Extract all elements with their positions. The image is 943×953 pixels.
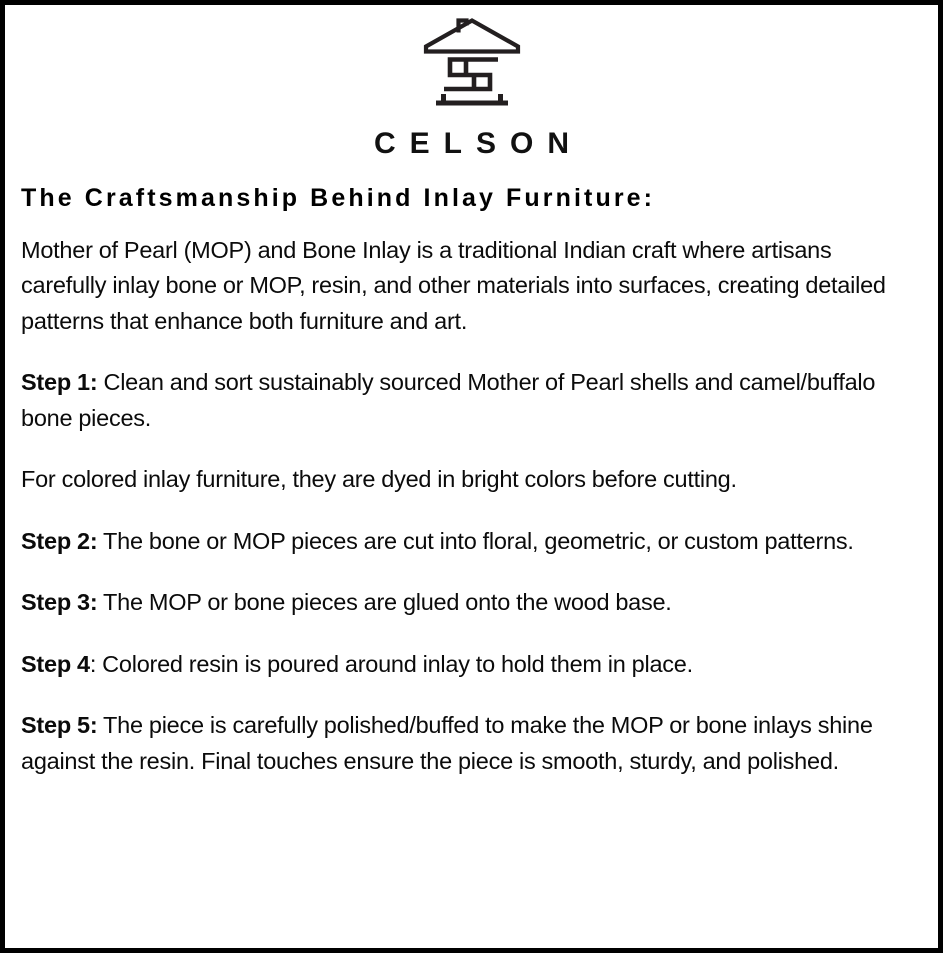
brand-header: CELSON: [16, 11, 927, 159]
step-2-label: Step 2:: [21, 528, 97, 554]
step-4-paragraph: Step 4: Colored resin is poured around i…: [21, 647, 911, 683]
step-3-paragraph: Step 3: The MOP or bone pieces are glued…: [21, 585, 911, 621]
step-5-label: Step 5:: [21, 712, 97, 738]
intro-paragraph: Mother of Pearl (MOP) and Bone Inlay is …: [21, 233, 911, 340]
step-3-label: Step 3:: [21, 589, 97, 615]
colored-inlay-note: For colored inlay furniture, they are dy…: [21, 462, 911, 498]
step-2-paragraph: Step 2: The bone or MOP pieces are cut i…: [21, 524, 911, 560]
poster-card: CELSON The Craftsmanship Behind Inlay Fu…: [0, 0, 943, 953]
poster-content: CELSON The Craftsmanship Behind Inlay Fu…: [5, 5, 938, 948]
page-title: The Craftsmanship Behind Inlay Furniture…: [21, 185, 927, 213]
step-4-label: Step 4: [21, 651, 90, 677]
house-monogram-logo-icon: [420, 15, 524, 115]
step-3-text: The MOP or bone pieces are glued onto th…: [97, 589, 671, 615]
step-1-text: Clean and sort sustainably sourced Mothe…: [21, 369, 875, 431]
step-5-paragraph: Step 5: The piece is carefully polished/…: [21, 708, 911, 779]
step-2-text: The bone or MOP pieces are cut into flor…: [97, 528, 853, 554]
step-4-text: : Colored resin is poured around inlay t…: [90, 651, 693, 677]
step-1-label: Step 1:: [21, 369, 97, 395]
step-5-text: The piece is carefully polished/buffed t…: [21, 712, 873, 774]
step-1-paragraph: Step 1: Clean and sort sustainably sourc…: [21, 365, 911, 436]
brand-wordmark: CELSON: [16, 129, 927, 159]
article-body: Mother of Pearl (MOP) and Bone Inlay is …: [21, 213, 911, 780]
